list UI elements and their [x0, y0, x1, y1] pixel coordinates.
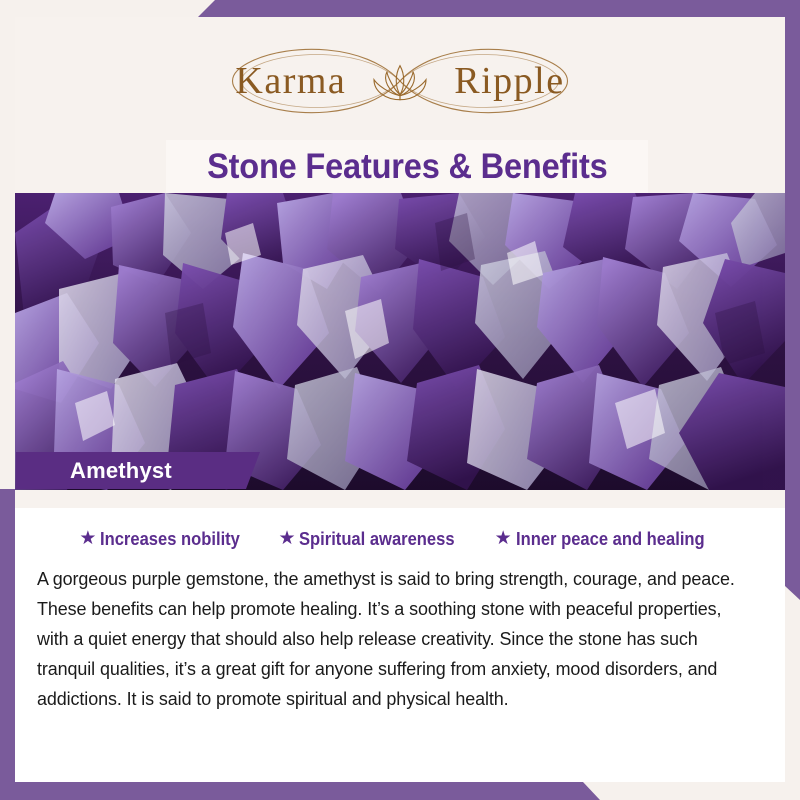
photo-bottom-strip — [15, 490, 785, 508]
frame-accent-right — [785, 0, 800, 600]
content-area: ★ Increases nobility ★ Spiritual awarene… — [15, 508, 785, 782]
star-icon: ★ — [79, 529, 96, 548]
star-icon: ★ — [495, 529, 512, 548]
page-title: Stone Features & Benefits — [207, 147, 608, 187]
brand-name-right: Ripple — [454, 62, 564, 100]
benefit-label: Increases nobility — [100, 529, 240, 550]
stone-name-ribbon: Amethyst — [16, 452, 260, 489]
card-body: Karma Ripple Stone Features & Benefits — [15, 17, 785, 782]
stone-description: A gorgeous purple gemstone, the amethyst… — [37, 564, 756, 714]
product-info-card: Karma Ripple Stone Features & Benefits — [0, 0, 800, 800]
header-band: Karma Ripple Stone Features & Benefits — [15, 17, 785, 193]
benefits-row: ★ Increases nobility ★ Spiritual awarene… — [15, 508, 785, 550]
frame-accent-left — [0, 489, 15, 800]
amethyst-crystal-cluster — [15, 193, 785, 490]
brand-logo: Karma Ripple — [15, 35, 785, 127]
benefit-item: ★ Spiritual awareness — [278, 529, 468, 550]
stone-name-label: Amethyst — [70, 458, 172, 484]
benefit-label: Spiritual awareness — [299, 529, 455, 550]
stone-photo: Amethyst — [15, 193, 785, 490]
frame-accent-top — [0, 0, 800, 17]
benefit-item: ★ Inner peace and healing — [495, 529, 721, 550]
benefit-item: ★ Increases nobility — [79, 529, 252, 550]
benefit-label: Inner peace and healing — [516, 529, 705, 550]
frame-accent-bottom — [0, 782, 800, 800]
lotus-icon — [370, 62, 430, 104]
title-plate: Stone Features & Benefits — [166, 140, 648, 193]
star-icon: ★ — [278, 529, 295, 548]
brand-name-left: Karma — [235, 62, 346, 100]
